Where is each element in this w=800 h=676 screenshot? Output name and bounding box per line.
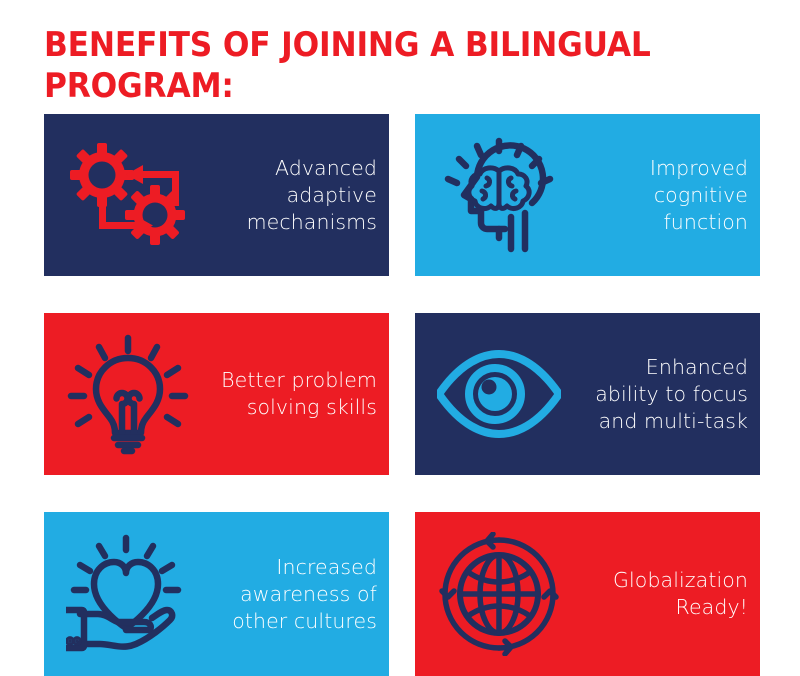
globe-cycle-icon <box>429 530 569 658</box>
benefit-card-label: Enhanced ability to focus and multi-task <box>595 354 760 435</box>
page-title: BENEFITS OF JOINING A BILINGUAL PROGRAM: <box>44 25 699 107</box>
infographic-page: BENEFITS OF JOINING A BILINGUAL PROGRAM: <box>0 0 800 676</box>
benefit-card-label: Better problem solving skills <box>221 367 389 421</box>
benefit-card-enhanced-ability-to-focus[interactable]: Enhanced ability to focus and multi-task <box>415 313 760 475</box>
benefit-card-improved-cognitive-function[interactable]: Improved cognitive function <box>415 114 760 276</box>
benefit-card-globalization-ready[interactable]: Globalization Ready! <box>415 512 760 676</box>
eye-icon <box>429 330 569 458</box>
benefit-card-label: Globalization Ready! <box>613 567 760 621</box>
gears-cycle-icon <box>58 131 198 259</box>
benefits-card-grid: Advanced adaptive mechanisms <box>44 114 760 676</box>
benefit-card-better-problem-solving-skills[interactable]: Better problem solving skills <box>44 313 389 475</box>
benefit-card-increased-awareness-of-other-cultures[interactable]: Increased awareness of other cultures <box>44 512 389 676</box>
benefit-card-label: Increased awareness of other cultures <box>232 554 389 635</box>
benefit-card-label: Improved cognitive function <box>650 155 760 236</box>
hand-heart-icon <box>58 530 198 658</box>
benefit-card-label: Advanced adaptive mechanisms <box>247 155 389 236</box>
benefit-card-advanced-adaptive-mechanisms[interactable]: Advanced adaptive mechanisms <box>44 114 389 276</box>
head-brain-icon <box>429 131 569 259</box>
lightbulb-icon <box>58 330 198 458</box>
